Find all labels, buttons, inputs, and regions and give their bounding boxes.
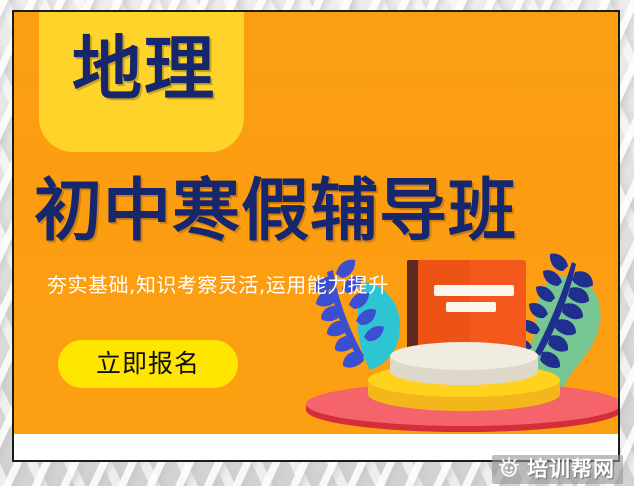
signup-button-label: 立即报名 bbox=[58, 340, 238, 388]
page-title: 初中寒假辅导班 bbox=[34, 178, 604, 246]
subtitle-text: 夯实基础,知识考察灵活,运用能力提升 bbox=[47, 273, 389, 297]
subject-badge-label: 地理 bbox=[54, 34, 234, 104]
poster-canvas: 地理 初中寒假辅导班 夯实基础,知识考察灵活,运用能力提升 立即报名 bbox=[14, 12, 618, 447]
poster-card: 地理 初中寒假辅导班 夯实基础,知识考察灵活,运用能力提升 立即报名 bbox=[12, 10, 620, 462]
card-footer-strip bbox=[14, 434, 618, 447]
signup-button[interactable]: 立即报名 bbox=[58, 340, 238, 388]
watermark: 培训帮网 bbox=[492, 455, 623, 484]
sun-face-icon bbox=[498, 456, 520, 483]
watermark-text: 培训帮网 bbox=[527, 459, 615, 480]
